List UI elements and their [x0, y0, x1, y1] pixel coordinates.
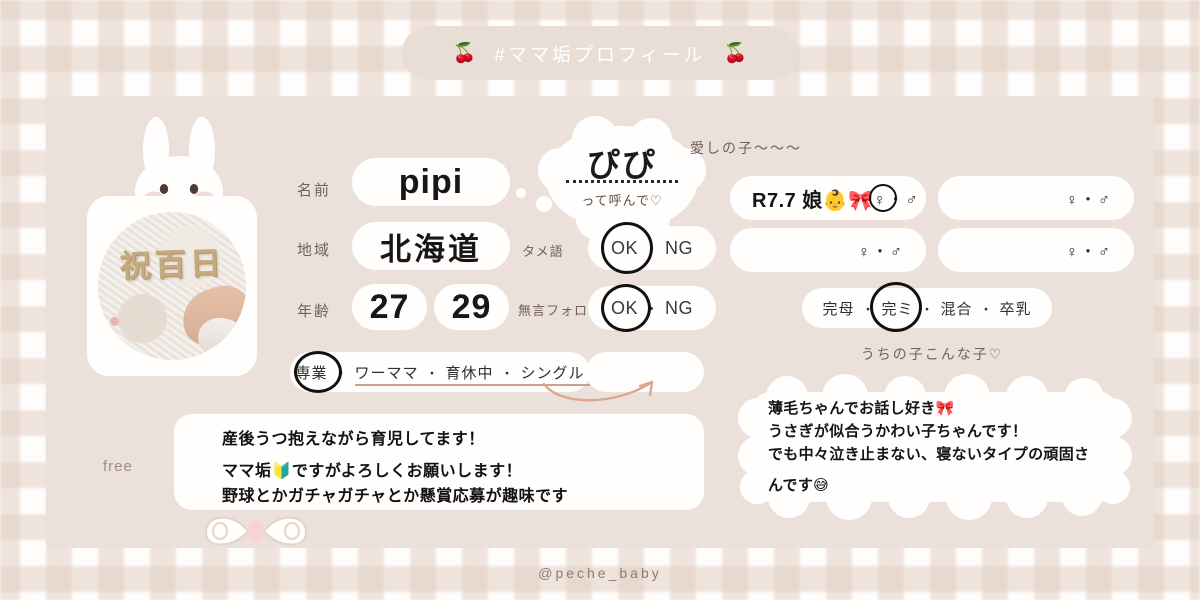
kid-4-gender-dot: ・	[1080, 244, 1098, 261]
kid-2-gender-dot: ・	[1080, 192, 1098, 209]
free-section-label: free	[103, 458, 133, 475]
label-name: 名前	[297, 179, 331, 200]
ribbon-bow-icon	[196, 505, 316, 557]
photo-caption: 祝百日	[98, 236, 246, 286]
kid-entry-4[interactable]: ♀・♂	[938, 228, 1134, 272]
cherry-icon-left: 🍒	[453, 44, 477, 63]
profile-photo: 祝百日	[98, 212, 246, 360]
kid-1-text: R7.7 娘👶🎀	[752, 184, 874, 213]
toggle-tamego-ng[interactable]: NG	[665, 238, 693, 259]
page-title: #ママ垢プロフィール	[494, 40, 705, 67]
free-text-line-1: 産後うつ抱えながら育児してます！	[222, 428, 704, 453]
nickname-value: ぴぴ	[546, 138, 698, 186]
selection-circle-status	[294, 351, 342, 393]
field-area[interactable]: 北海道	[352, 222, 510, 270]
status-separator-3: ・	[501, 363, 514, 382]
selection-circle-feeding	[870, 282, 922, 332]
kids-description-line-1: 薄毛ちゃんでお話し好き🎀	[768, 398, 1112, 421]
kid-3-gender-female[interactable]: ♀	[858, 244, 872, 261]
kid-2-gender-male[interactable]: ♂	[1098, 192, 1112, 209]
bubble-tail-small	[516, 188, 526, 198]
feeding-option-sotsunyu[interactable]: 卒乳	[1000, 298, 1032, 319]
kids-description-spacer	[768, 466, 1112, 475]
kid-2-gender[interactable]: ♀・♂	[1066, 186, 1112, 210]
label-area: 地域	[297, 239, 331, 260]
kid-4-gender-male[interactable]: ♂	[1098, 244, 1112, 261]
nickname-bubble: ぴぴ って呼んで♡	[546, 126, 698, 230]
free-text-spacer	[222, 453, 704, 460]
feeding-separator-3: ・	[980, 299, 993, 318]
value-name: pipi	[399, 163, 463, 202]
curved-arrow-icon	[540, 372, 670, 412]
status-option-wamama[interactable]: ワーママ	[354, 362, 418, 383]
label-tamego: タメ語	[522, 241, 564, 260]
value-age-primary: 27	[370, 288, 410, 327]
kid-entry-3[interactable]: ♀・♂	[730, 228, 926, 272]
status-separator-2: ・	[425, 363, 438, 382]
feeding-selector[interactable]: 完母 ・ 完ミ ・ 混合 ・ 卒乳	[802, 288, 1052, 328]
feeding-separator-2: ・	[920, 299, 933, 318]
footer-handle: @peche_baby	[0, 565, 1200, 581]
kid-4-gender[interactable]: ♀・♂	[1066, 238, 1112, 262]
field-age-primary[interactable]: 27	[352, 284, 427, 330]
nickname-dotted-underline	[566, 180, 678, 183]
kid-3-gender-male[interactable]: ♂	[890, 244, 904, 261]
selection-circle-mugon	[601, 284, 651, 332]
field-age-secondary[interactable]: 29	[434, 284, 509, 330]
cherry-icon-right: 🍒	[724, 44, 748, 63]
kids-description-subtitle: うちの子こんな子♡	[730, 344, 1134, 364]
kid-4-gender-female[interactable]: ♀	[1066, 244, 1080, 261]
flower-decor-icon	[110, 317, 119, 326]
profile-photo-frame: 祝百日	[87, 196, 257, 376]
free-text-line-3: 野球とかガチャガチャとか懸賞応募が趣味です	[222, 485, 704, 510]
kid-entry-2[interactable]: ♀・♂	[938, 176, 1134, 220]
kid-1-gender-male[interactable]: ♂	[906, 192, 920, 209]
value-age-secondary: 29	[452, 288, 492, 327]
status-option-ikukyu[interactable]: 育休中	[446, 362, 494, 383]
free-text-box[interactable]: 産後うつ抱えながら育児してます！ ママ垢🔰ですがよろしくお願いします！ 野球とか…	[174, 414, 704, 510]
nickname-subtext: って呼んで♡	[546, 190, 698, 209]
kids-description-box[interactable]: 薄毛ちゃんでお話し好き🎀 うさぎが似合うかわい子ちゃんです！ でも中々泣き止まな…	[738, 382, 1132, 512]
label-age: 年齢	[297, 300, 331, 321]
free-text-line-2: ママ垢🔰ですがよろしくお願いします！	[222, 460, 704, 485]
kids-description-line-3: でも中々泣き止まない、寝ないタイプの頑固さ	[768, 444, 1112, 467]
kids-description-line-4: んです😅	[768, 475, 1112, 498]
kids-description-text: 薄毛ちゃんでお話し好き🎀 うさぎが似合うかわい子ちゃんです！ でも中々泣き止まな…	[768, 398, 1112, 498]
field-name[interactable]: pipi	[352, 158, 510, 206]
kid-2-gender-female[interactable]: ♀	[1066, 192, 1080, 209]
toggle-mugon-ng[interactable]: NG	[665, 298, 693, 319]
feeding-option-kongo[interactable]: 混合	[941, 298, 973, 319]
selection-circle-kid-1-gender	[869, 184, 897, 212]
header-title-pill: 🍒 #ママ垢プロフィール 🍒	[402, 26, 798, 80]
feeding-option-kanbo[interactable]: 完母	[822, 298, 854, 319]
kids-description-line-2: うさぎが似合うかわい子ちゃんです！	[768, 421, 1112, 444]
kid-3-gender-dot: ・	[872, 244, 890, 261]
selection-circle-tamego	[601, 222, 653, 274]
kid-3-gender[interactable]: ♀・♂	[858, 238, 904, 262]
value-area: 北海道	[380, 224, 482, 269]
